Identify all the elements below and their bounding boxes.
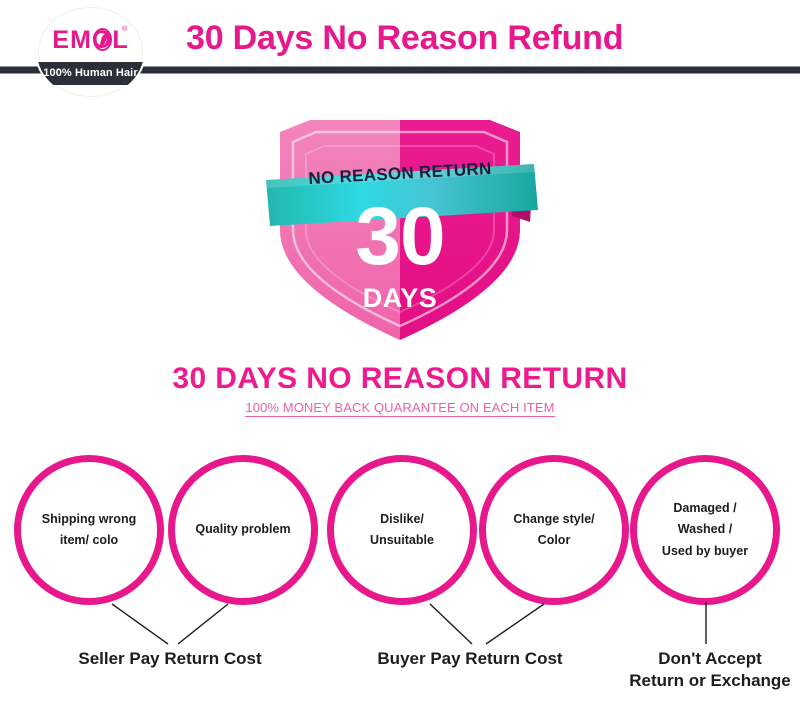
reason-label: Damaged /Washed /Used by buyer (656, 498, 754, 563)
page-title: 30 Days No Reason Refund (186, 19, 623, 58)
connector-reason1-to-seller (178, 604, 228, 644)
outcome-dont-accept-return-or-exchange: Don't AcceptReturn or Exchange (620, 648, 800, 693)
brand-logo-badge: EMOL ® 100% Human Hair (37, 6, 144, 98)
reason-label: Change style/Color (507, 509, 600, 552)
reason-circle-dislike-unsuitable[interactable]: Dislike/Unsuitable (327, 455, 477, 605)
shield-unit-label: DAYS (262, 283, 538, 314)
outcome-buyer-pay-return-cost: Buyer Pay Return Cost (340, 648, 600, 670)
policy-headline: 30 DAYS NO REASON RETURN (0, 362, 800, 396)
logo-wordmark: EMOL (37, 28, 144, 53)
reason-circle-change-style-color[interactable]: Change style/Color (479, 455, 629, 605)
outcome-seller-pay-return-cost: Seller Pay Return Cost (40, 648, 300, 670)
connector-reason0-to-seller (112, 604, 168, 644)
connector-reason2-to-buyer (430, 604, 472, 644)
connector-reason3-to-buyer (486, 604, 544, 644)
registered-mark-icon: ® (122, 26, 127, 33)
reason-circle-damaged-washed-used[interactable]: Damaged /Washed /Used by buyer (630, 455, 780, 605)
refund-policy-infographic: EMOL ® 100% Human Hair 30 Days No Reason… (0, 0, 800, 707)
shield-number: 30 (262, 196, 538, 278)
connector-lines (0, 600, 800, 655)
reason-label: Dislike/Unsuitable (364, 509, 440, 552)
hair-drop-icon (93, 28, 112, 51)
policy-subtitle-text: 100% MONEY BACK QUARANTEE ON EACH ITEM (245, 400, 554, 417)
reason-label: Quality problem (189, 519, 296, 541)
guarantee-shield-badge: NO REASON RETURN 30 DAYS (262, 118, 538, 342)
reason-label: Shipping wrongitem/ colo (36, 509, 142, 552)
reason-circle-quality-problem[interactable]: Quality problem (168, 455, 318, 605)
logo-tagline: 100% Human Hair (37, 62, 144, 85)
policy-subtitle: 100% MONEY BACK QUARANTEE ON EACH ITEM (0, 400, 800, 415)
reason-circle-shipping-wrong-item[interactable]: Shipping wrongitem/ colo (14, 455, 164, 605)
